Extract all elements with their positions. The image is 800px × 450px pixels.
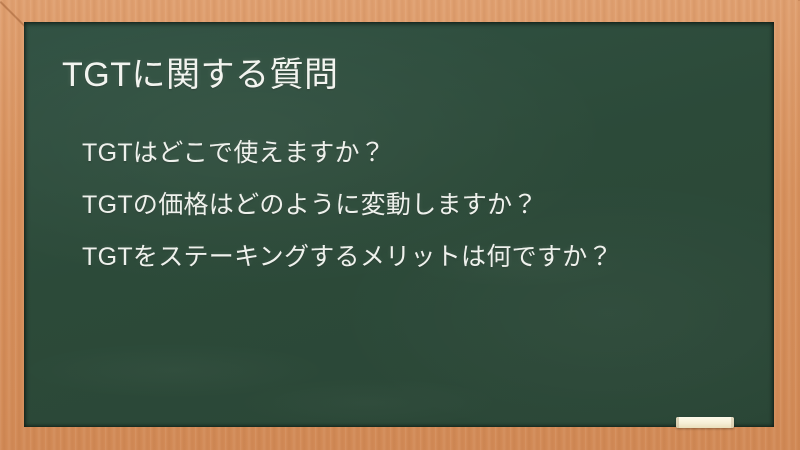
- question-list: TGTはどこで使えますか？ TGTの価格はどのように変動しますか？ TGTをステ…: [82, 127, 744, 283]
- list-item: TGTはどこで使えますか？: [82, 127, 744, 179]
- page-title: TGTに関する質問: [62, 52, 338, 98]
- chalkboard-surface: TGTに関する質問 TGTはどこで使えますか？ TGTの価格はどのように変動しま…: [24, 22, 774, 427]
- chalk-stick-icon: [676, 417, 734, 428]
- chalkboard-slide: TGTに関する質問 TGTはどこで使えますか？ TGTの価格はどのように変動しま…: [0, 0, 800, 450]
- list-item: TGTをステーキングするメリットは何ですか？: [82, 231, 744, 283]
- list-item: TGTの価格はどのように変動しますか？: [82, 179, 744, 231]
